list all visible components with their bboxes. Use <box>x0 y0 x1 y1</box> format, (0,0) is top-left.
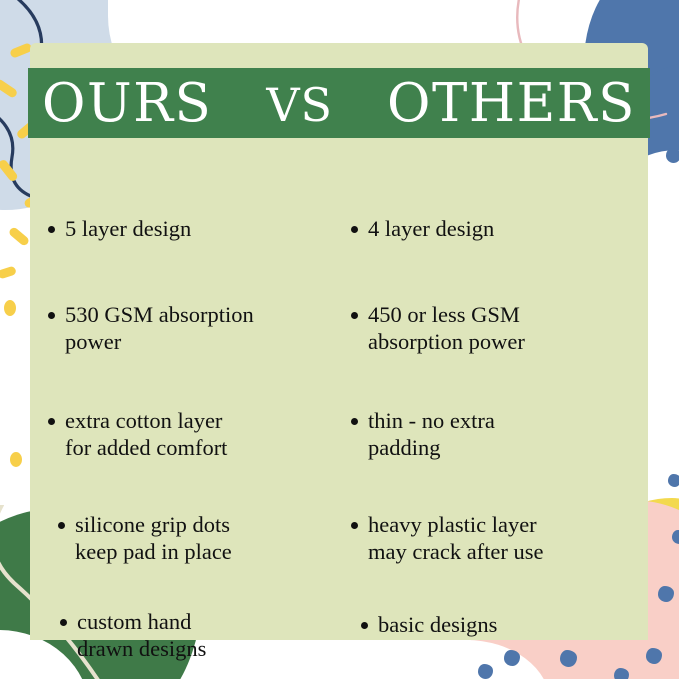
ours-column: 5 layer design530 GSM absorption powerex… <box>30 153 339 640</box>
bullet-text: heavy plastic layer may crack after use <box>368 511 544 566</box>
bullet-item: 5 layer design <box>48 215 191 242</box>
bullet-item: 450 or less GSM absorption power <box>351 301 525 356</box>
bullet-item: silicone grip dots keep pad in place <box>58 511 232 566</box>
comparison-card: OURS VS OTHERS 5 layer design530 GSM abs… <box>30 43 648 640</box>
bullet-text: 4 layer design <box>368 215 494 242</box>
blue-dot-decoration <box>668 474 679 487</box>
bullet-text: thin - no extra padding <box>368 407 495 462</box>
bullet-item: thin - no extra padding <box>351 407 495 462</box>
blue-dot-decoration <box>478 664 493 679</box>
bullet-item: heavy plastic layer may crack after use <box>351 511 544 566</box>
blue-dot-decoration <box>672 530 679 544</box>
bullet-dot-icon <box>351 522 358 529</box>
bullet-text: basic designs <box>378 611 497 638</box>
ours-title: OURS <box>42 77 212 130</box>
blue-dot-decoration <box>614 668 629 679</box>
blue-dot-decoration <box>504 650 520 666</box>
blue-dot-decoration <box>646 648 662 664</box>
yellow-dot-decoration <box>4 300 16 316</box>
bullet-dot-icon <box>351 418 358 425</box>
bullet-text: 5 layer design <box>65 215 191 242</box>
bullet-dot-icon <box>48 418 55 425</box>
infographic-canvas: OURS VS OTHERS 5 layer design530 GSM abs… <box>0 0 679 679</box>
vs-title: VS <box>266 82 333 128</box>
bullet-item: basic designs <box>361 611 497 638</box>
bullet-dot-icon <box>351 312 358 319</box>
bullet-item: 530 GSM absorption power <box>48 301 254 356</box>
blue-dot-decoration <box>666 148 679 163</box>
others-title: OTHERS <box>387 77 636 130</box>
blue-dot-decoration <box>560 650 577 667</box>
bullet-text: 450 or less GSM absorption power <box>368 301 525 356</box>
bullet-dot-icon <box>351 226 358 233</box>
yellow-dash-decoration <box>0 158 19 182</box>
bullet-dot-icon <box>58 522 65 529</box>
yellow-dash-decoration <box>8 226 31 247</box>
others-column: 4 layer design450 or less GSM absorption… <box>339 153 648 640</box>
bullet-dot-icon <box>361 622 368 629</box>
bullet-item: custom hand drawn designs <box>60 608 206 663</box>
bullet-item: extra cotton layer for added comfort <box>48 407 227 462</box>
bullet-dot-icon <box>60 619 67 626</box>
bullet-text: 530 GSM absorption power <box>65 301 254 356</box>
comparison-columns: 5 layer design530 GSM absorption powerex… <box>30 153 648 640</box>
bullet-text: extra cotton layer for added comfort <box>65 407 227 462</box>
yellow-dot-decoration <box>10 452 22 467</box>
bullet-item: 4 layer design <box>351 215 494 242</box>
yellow-dash-decoration <box>0 78 18 99</box>
comparison-title-band: OURS VS OTHERS <box>28 68 650 138</box>
bullet-text: custom hand drawn designs <box>77 608 206 663</box>
bottom-right-white-notch-decoration <box>410 640 550 679</box>
yellow-dash-decoration <box>0 265 17 279</box>
bullet-text: silicone grip dots keep pad in place <box>75 511 232 566</box>
bullet-dot-icon <box>48 312 55 319</box>
bullet-dot-icon <box>48 226 55 233</box>
blue-dot-decoration <box>658 586 674 602</box>
